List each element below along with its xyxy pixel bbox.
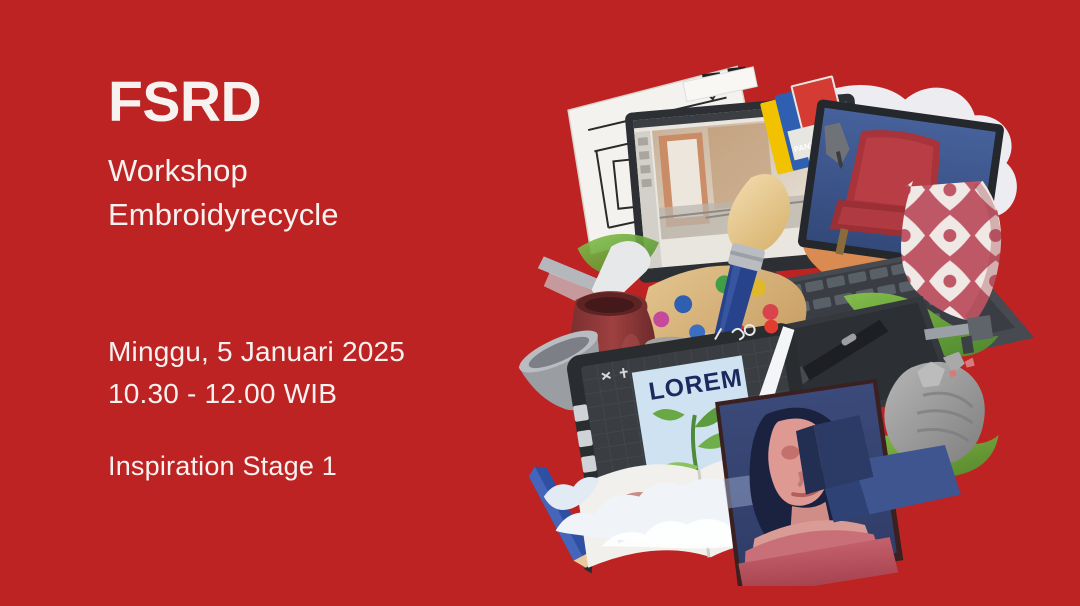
creative-tools-collage: PANTONE PANTONE (516, 30, 1072, 586)
title-block: FSRD Workshop Embroidyrecycle (108, 74, 528, 237)
poster-text-column: FSRD Workshop Embroidyrecycle Minggu, 5 … (108, 0, 528, 606)
subtitle-line-2: Embroidyrecycle (108, 193, 528, 237)
brand-title: FSRD (108, 74, 528, 131)
subtitle-line-1: Workshop (108, 149, 528, 193)
venue-block: Inspiration Stage 1 (108, 451, 528, 482)
event-date: Minggu, 5 Januari 2025 (108, 331, 528, 373)
event-poster: FSRD Workshop Embroidyrecycle Minggu, 5 … (0, 0, 1080, 606)
event-venue: Inspiration Stage 1 (108, 451, 528, 482)
date-time-block: Minggu, 5 Januari 2025 10.30 - 12.00 WIB (108, 331, 528, 415)
subtitle-block: Workshop Embroidyrecycle (108, 149, 528, 237)
event-time: 10.30 - 12.00 WIB (108, 373, 528, 415)
